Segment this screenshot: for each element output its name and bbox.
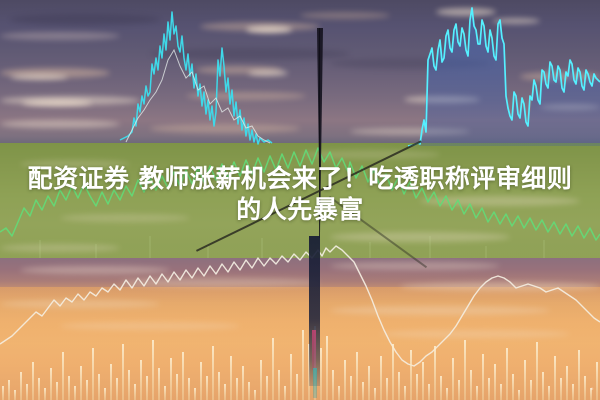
- price-line-white-lower: [0, 246, 600, 366]
- navy-band-teal-tail: [313, 368, 317, 398]
- navy-band-pink-tail: [312, 330, 316, 370]
- headline-text: 配资证券 教师涨薪机会来了！吃透职称评审细则 的人先暴富: [0, 163, 600, 225]
- price-line-cyan-left: [120, 12, 272, 144]
- minor-tick-lines: [40, 236, 544, 258]
- volume-bars: [2, 326, 598, 400]
- headline-line-2: 的人先暴富: [0, 194, 600, 225]
- thumbnail-image: 配资证券 教师涨薪机会来了！吃透职称评审细则 的人先暴富 •: [0, 0, 600, 400]
- headline-line-1: 配资证券 教师涨薪机会来了！吃透职称评审细则: [0, 163, 600, 194]
- corner-watermark: •: [591, 384, 594, 394]
